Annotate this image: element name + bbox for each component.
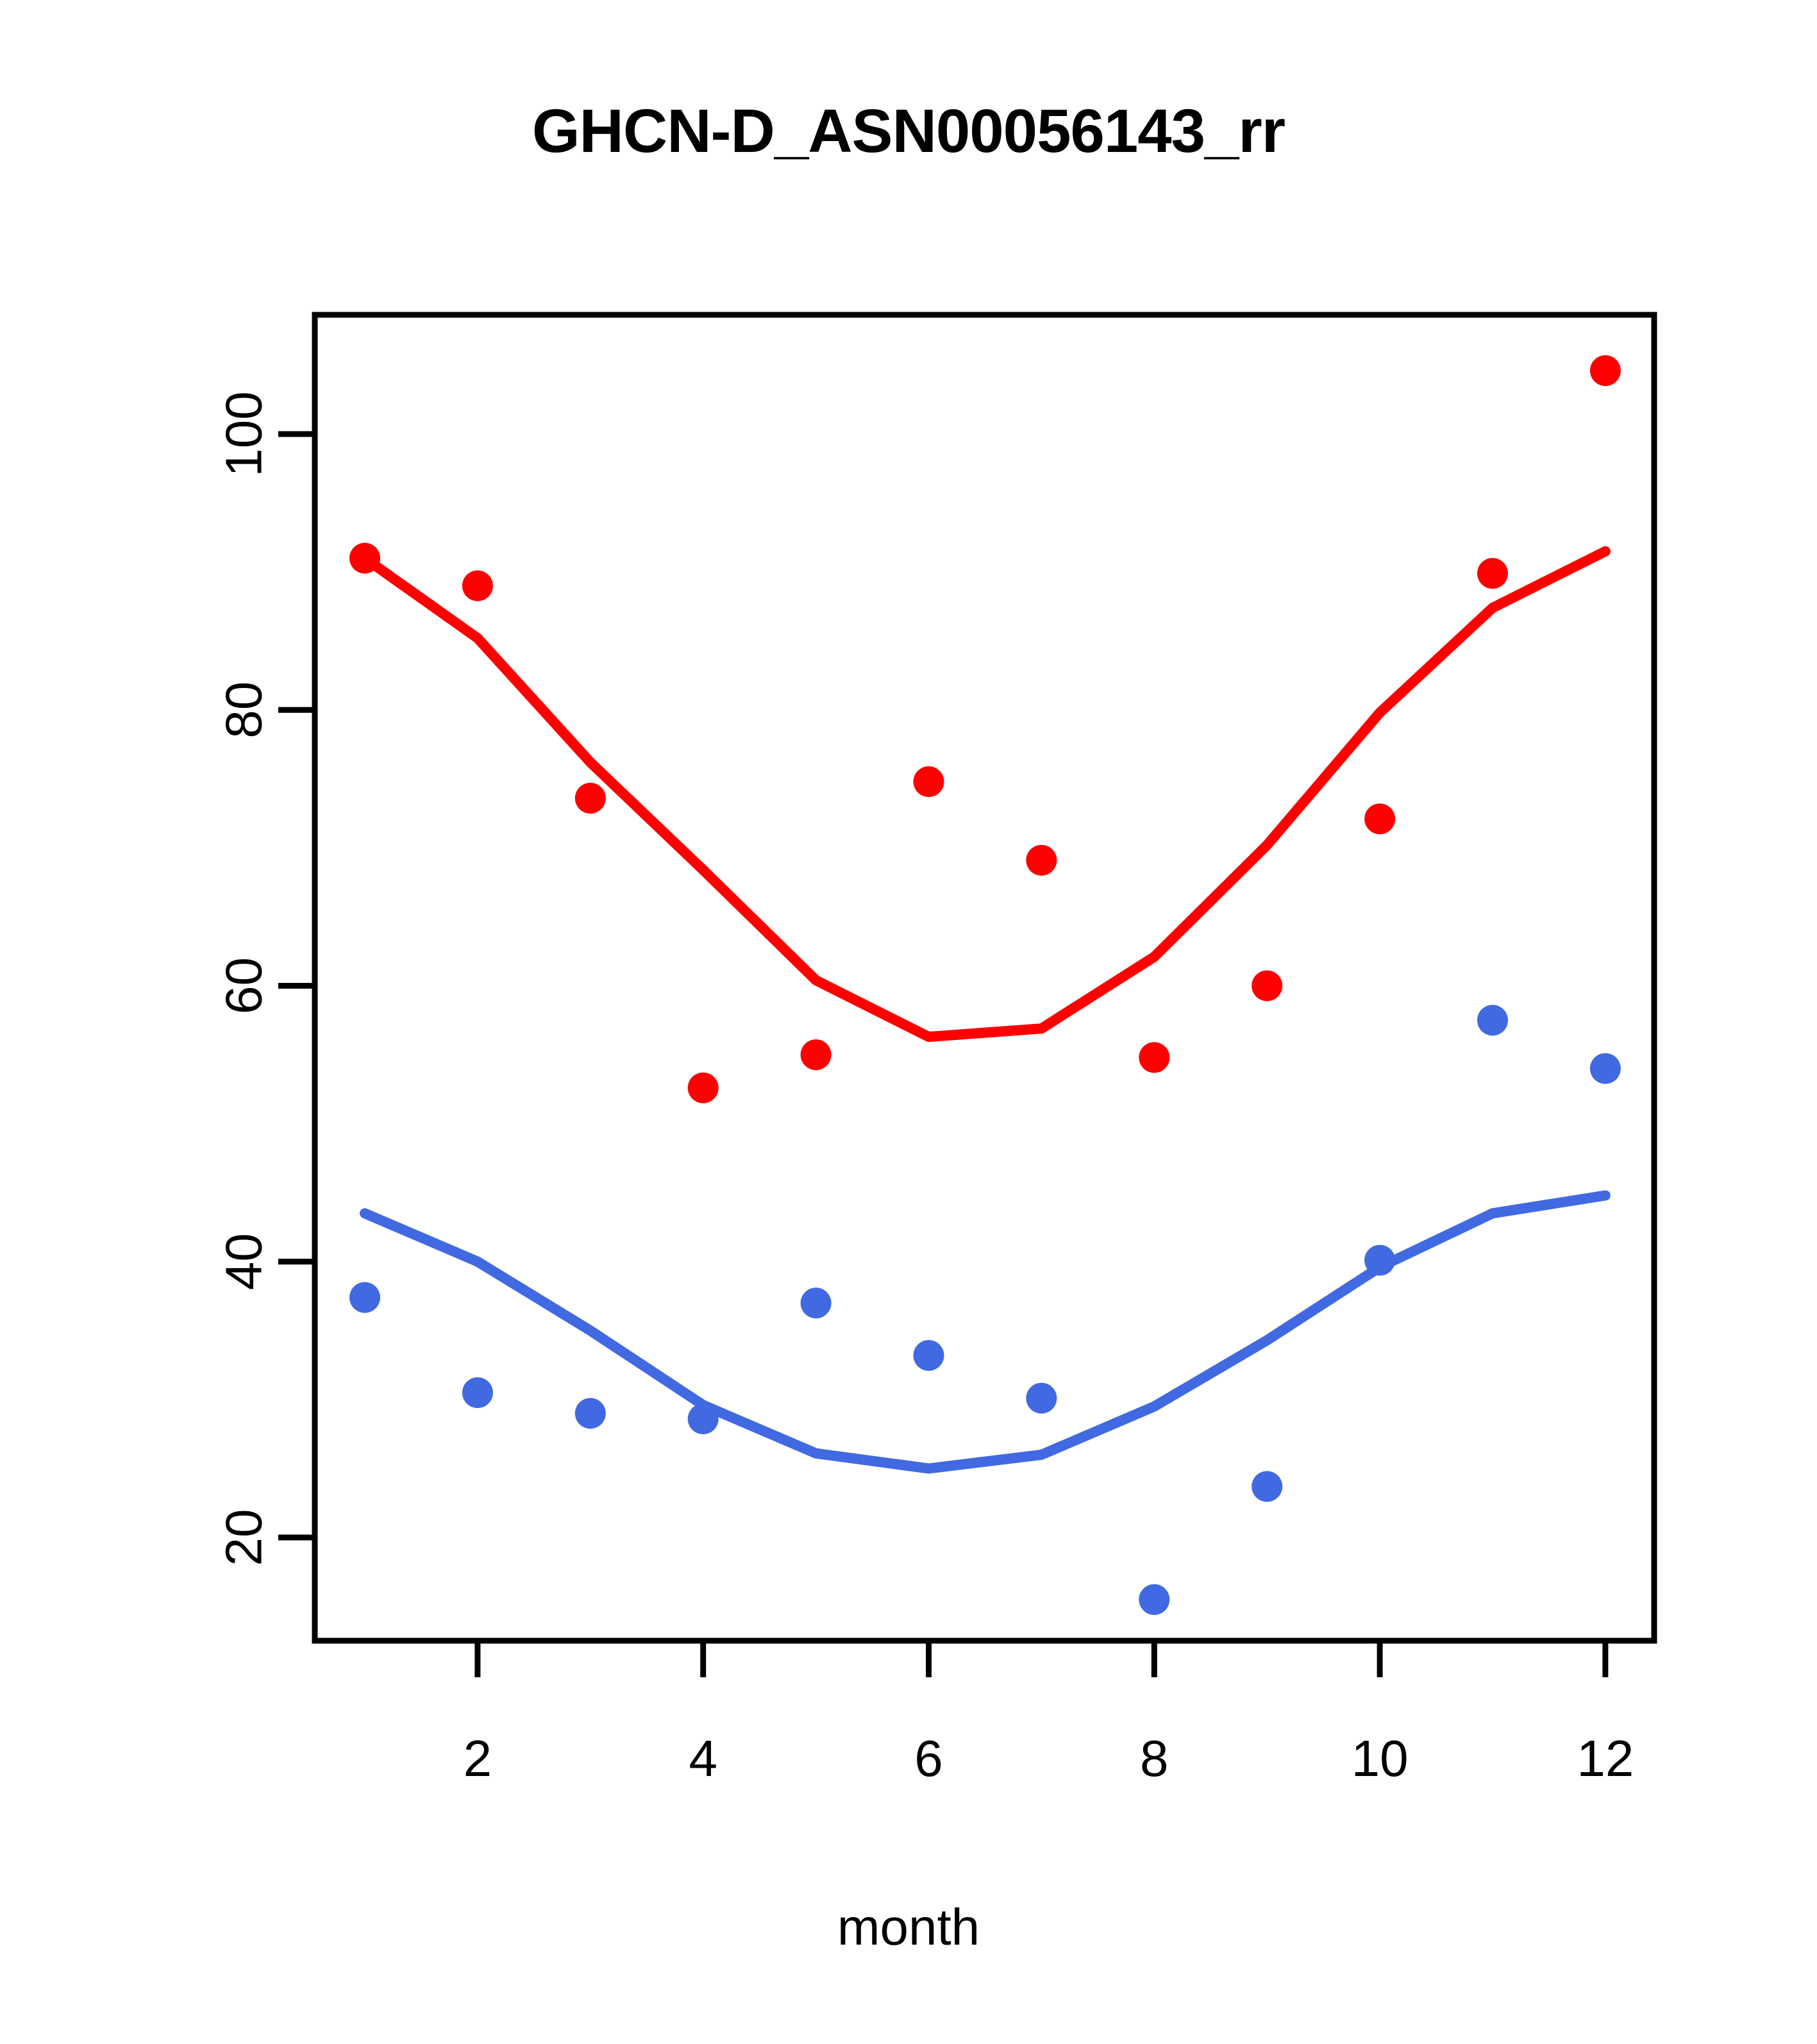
y-axis-tick-labels: 20406080100 bbox=[215, 391, 272, 1566]
x-axis-tick-labels: 24681012 bbox=[464, 1730, 1634, 1787]
x-tick-label: 10 bbox=[1352, 1730, 1409, 1787]
x-tick-label: 8 bbox=[1140, 1730, 1169, 1787]
data-point bbox=[1026, 845, 1057, 876]
data-point bbox=[1364, 803, 1395, 834]
data-point bbox=[1252, 1471, 1282, 1502]
x-tick-label: 6 bbox=[914, 1730, 943, 1787]
blue-data-points bbox=[349, 1005, 1621, 1615]
plot-frame bbox=[315, 315, 1654, 1641]
data-point bbox=[1477, 1005, 1508, 1035]
data-point bbox=[1590, 355, 1621, 386]
y-axis-ticks bbox=[278, 434, 315, 1537]
x-tick-label: 4 bbox=[689, 1730, 717, 1787]
plot-area: 20406080100 24681012 bbox=[0, 0, 1817, 2044]
data-point bbox=[1364, 1245, 1395, 1276]
data-point bbox=[462, 1377, 493, 1408]
data-point bbox=[1139, 1042, 1169, 1073]
data-point bbox=[575, 1398, 606, 1428]
chart-figure: GHCN-D_ASN00056143_rr 20406080100 246810… bbox=[0, 0, 1817, 2044]
blue-trend-line bbox=[365, 1195, 1605, 1468]
y-tick-label: 100 bbox=[215, 391, 272, 476]
data-point bbox=[1139, 1584, 1169, 1615]
data-point bbox=[1477, 558, 1508, 589]
y-tick-label: 80 bbox=[215, 682, 272, 739]
data-point bbox=[688, 1403, 719, 1434]
y-tick-label: 40 bbox=[215, 1233, 272, 1290]
data-point bbox=[575, 783, 606, 814]
red-data-points bbox=[349, 355, 1621, 1103]
red-trend-line bbox=[365, 551, 1605, 1037]
y-tick-label: 20 bbox=[215, 1509, 272, 1566]
x-axis-label: month bbox=[0, 1898, 1817, 1957]
data-point bbox=[688, 1073, 719, 1103]
blue-line bbox=[365, 1195, 1605, 1468]
red-line bbox=[365, 551, 1605, 1037]
x-tick-label: 12 bbox=[1577, 1730, 1634, 1787]
data-point bbox=[914, 1340, 944, 1371]
x-tick-label: 2 bbox=[464, 1730, 492, 1787]
data-point bbox=[914, 766, 944, 797]
data-point bbox=[1590, 1053, 1621, 1084]
data-point bbox=[462, 571, 493, 601]
x-axis-ticks bbox=[478, 1641, 1605, 1677]
data-point bbox=[349, 543, 380, 574]
data-point bbox=[349, 1282, 380, 1313]
data-point bbox=[801, 1287, 832, 1318]
y-tick-label: 60 bbox=[215, 957, 272, 1014]
data-point bbox=[1252, 971, 1282, 1001]
data-point bbox=[801, 1039, 832, 1070]
data-point bbox=[1026, 1383, 1057, 1414]
